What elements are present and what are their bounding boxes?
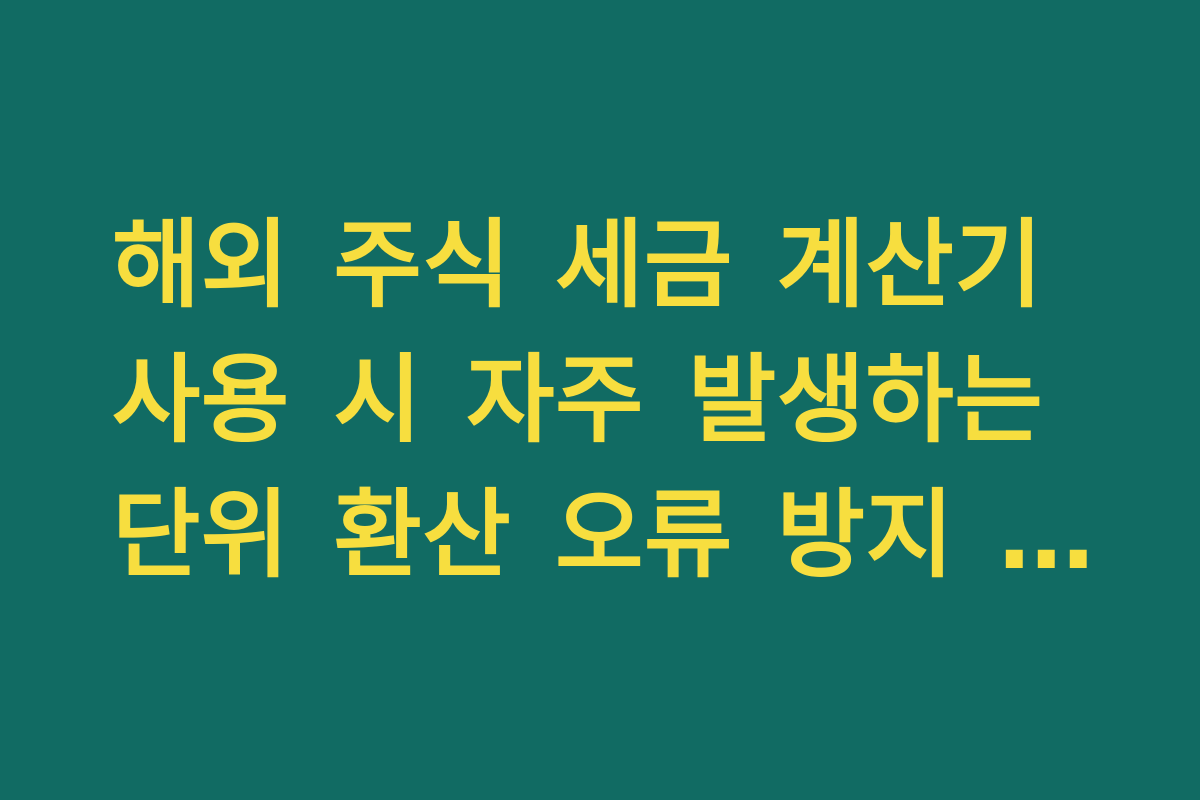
thumbnail-card: 해외 주식 세금 계산기 사용 시 자주 발생하는 단위 환산 오류 방지 … bbox=[0, 0, 1200, 800]
headline-line-2: 사용 시 자주 발생하는 bbox=[112, 333, 1095, 468]
headline-text-block: 해외 주식 세금 계산기 사용 시 자주 발생하는 단위 환산 오류 방지 … bbox=[112, 198, 1095, 603]
headline-line-1: 해외 주식 세금 계산기 bbox=[112, 198, 1095, 333]
headline-line-3: 단위 환산 오류 방지 … bbox=[112, 468, 1095, 603]
